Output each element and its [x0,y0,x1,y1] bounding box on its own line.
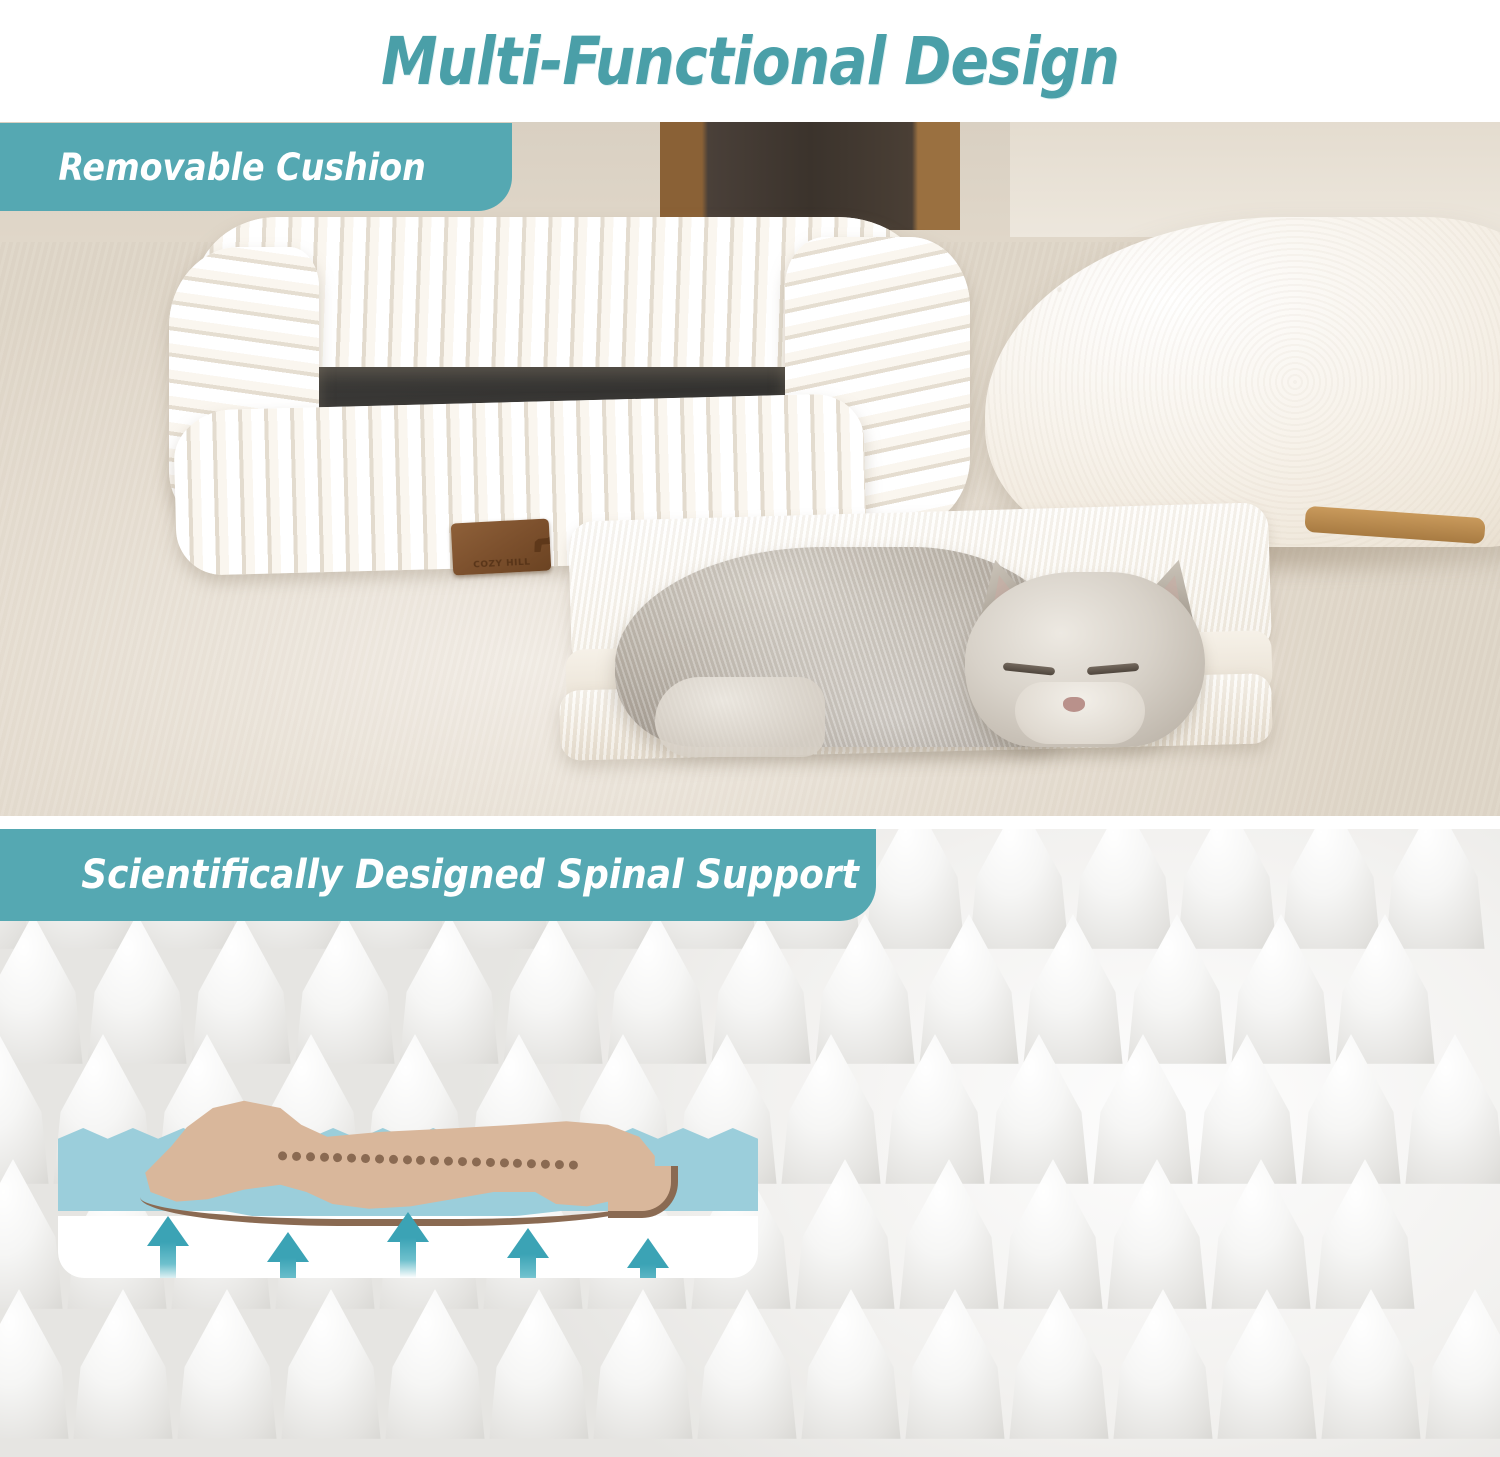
header-banner: Multi-Functional Design [0,0,1500,122]
removable-cushion-photo: COZY HILL [0,122,1500,816]
support-arrows [58,1216,758,1278]
support-arrow-up-icon [387,1212,429,1274]
support-arrow-up-icon [507,1228,549,1278]
foam-cone-row [0,1289,1500,1439]
doorway [660,122,960,230]
dog-silhouette-icon [533,531,551,552]
cat-muzzle [1015,682,1145,744]
spinal-support-diagram [58,1088,758,1278]
tag-animal-icons [451,523,550,554]
leather-brand-tag: COZY HILL [451,518,552,575]
sleeping-cat [615,537,1235,772]
support-arrow-up-icon [147,1216,189,1278]
cat-fur-tuft [655,677,825,757]
badge-removable-cushion-label: Removable Cushion [58,146,425,189]
support-arrow-up-icon [267,1232,309,1278]
badge-spinal-support-label: Scientifically Designed Spinal Support [81,852,859,898]
brand-tag-text: COZY HILL [473,557,531,570]
badge-removable-cushion: Removable Cushion [0,123,512,211]
page-title: Multi-Functional Design [381,23,1119,100]
cat-nose [1063,697,1085,712]
badge-spinal-support: Scientifically Designed Spinal Support [0,829,876,921]
section-divider [0,816,1500,829]
support-arrow-up-icon [627,1238,669,1278]
